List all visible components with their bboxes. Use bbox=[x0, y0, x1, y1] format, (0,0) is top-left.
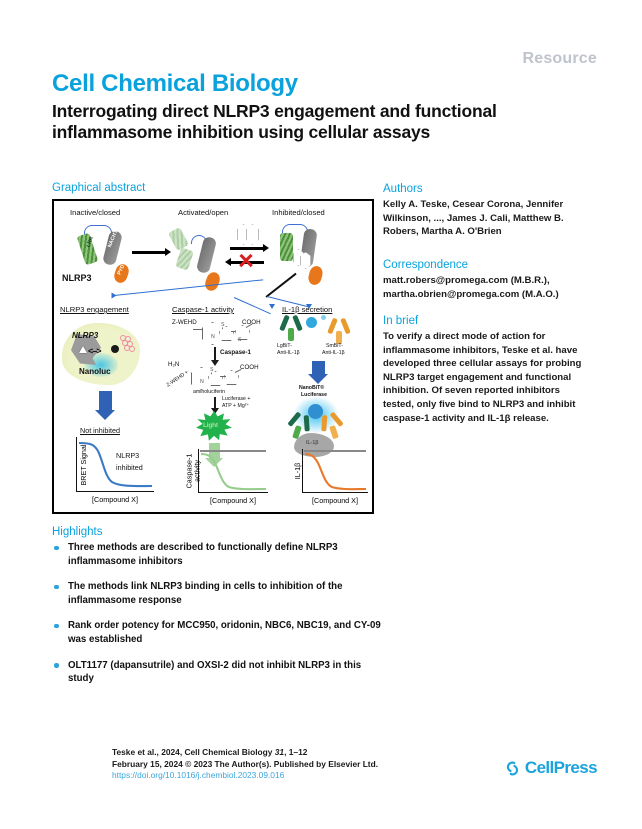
plot-bret-annotation-line2: inhibited bbox=[116, 463, 143, 472]
journal-title: Cell Chemical Biology bbox=[52, 70, 298, 98]
smbit-label-line1: SmBiT- bbox=[326, 343, 343, 349]
nanoluc-label: Nanoluc bbox=[79, 367, 111, 376]
engagement-protein-label: NLRP3 bbox=[72, 331, 98, 340]
lgbit-subunit-icon bbox=[306, 317, 317, 328]
nlrp3-protein-name: NLRP3 bbox=[62, 273, 92, 283]
lrr-domain-inhibited bbox=[280, 233, 293, 261]
product-amine-label: H₂N bbox=[168, 361, 179, 368]
plot-il1b-xlabel: [Compound X] bbox=[312, 496, 358, 505]
cellpress-mark-icon bbox=[504, 760, 521, 777]
chem-bond-4 bbox=[220, 376, 226, 377]
authors-list: Kelly A. Teske, Cesear Corona, Jennifer … bbox=[383, 198, 583, 239]
cellpress-logo[interactable]: CellPress bbox=[504, 758, 597, 778]
panel-heading-engagement: NLRP3 engagement bbox=[60, 305, 129, 314]
chem-bond-5 bbox=[235, 369, 242, 373]
plot-il1b: IL-1β [Compound X] bbox=[302, 449, 368, 493]
highlights-heading: Highlights bbox=[52, 526, 103, 538]
detection-reagent-line1: Luciferase + bbox=[222, 396, 250, 402]
flow-arrow-engagement bbox=[112, 293, 117, 299]
state-label-activated: Activated/open bbox=[178, 208, 228, 217]
list-item: OLT1177 (dapansutrile) and OXSI-2 did no… bbox=[52, 659, 382, 686]
footer-citation: Teske et al., 2024, Cell Chemical Biolog… bbox=[112, 747, 378, 782]
doi-link[interactable]: https://doi.org/10.1016/j.chembiol.2023.… bbox=[112, 770, 378, 782]
tracer-linker-icon: <–> bbox=[88, 346, 101, 356]
pointer-line bbox=[265, 273, 296, 298]
in-brief-text: To verify a direct mode of action for in… bbox=[383, 330, 583, 425]
highlight-text: The methods link NLRP3 binding in cells … bbox=[68, 581, 342, 606]
lgbit-label-line1: LgBiT- bbox=[277, 343, 292, 349]
correspondence-heading: Correspondence bbox=[383, 259, 583, 271]
lrr-domain-open-a bbox=[168, 227, 189, 251]
graphical-abstract-figure: Inactive/closed Activated/open Inhibited… bbox=[52, 199, 374, 514]
inhibition-arrow-forward bbox=[230, 247, 264, 250]
ring-atom-n2: N bbox=[200, 379, 204, 385]
pyd-domain-open bbox=[203, 270, 222, 292]
nanobit-label-line1: NanoBiT® bbox=[299, 385, 324, 391]
plot-bret-xlabel: [Compound X] bbox=[92, 495, 138, 504]
ring-atom-n1: N bbox=[211, 334, 215, 340]
cellpress-wordmark: CellPress bbox=[525, 758, 597, 778]
panel-heading-caspase: Caspase-1 activity bbox=[172, 305, 234, 314]
bullet-icon bbox=[54, 624, 59, 629]
lrr-domain-open-b bbox=[175, 247, 194, 270]
flow-line-engagement bbox=[114, 279, 263, 296]
list-item: Rank order potency for MCC950, oridonin,… bbox=[52, 619, 382, 646]
complementation-arrow bbox=[312, 361, 325, 375]
caspase-enzyme-label: Caspase-1 bbox=[220, 349, 251, 356]
in-brief-heading: In brief bbox=[383, 315, 583, 327]
highlight-text: Three methods are described to functiona… bbox=[68, 542, 338, 567]
authors-heading: Authors bbox=[383, 183, 583, 195]
bullet-icon bbox=[54, 663, 59, 668]
ring-atom-s2: S bbox=[238, 337, 241, 343]
plot-bret-annotation-top: Not inhibited bbox=[80, 426, 120, 435]
list-item: The methods link NLRP3 binding in cells … bbox=[52, 580, 382, 607]
citation-volume: 31 bbox=[275, 747, 284, 757]
plot-bret-signal: BRET Signal [Compound X] Not inhibited N… bbox=[76, 437, 154, 492]
highlights-list: Three methods are described to functiona… bbox=[52, 541, 382, 698]
smbit-antibody-icon bbox=[326, 318, 352, 344]
state-label-inhibited: Inhibited/closed bbox=[272, 208, 325, 217]
page-title: Interrogating direct NLRP3 engagement an… bbox=[52, 101, 567, 143]
plot-caspase-xlabel: [Compound X] bbox=[210, 496, 256, 505]
luciferase-reaction-arrow bbox=[214, 397, 216, 409]
smbit-subunit-icon bbox=[321, 315, 326, 320]
engagement-readout-arrow bbox=[99, 391, 112, 411]
detection-reagent-line2: ATP + Mg²⁺ bbox=[222, 403, 249, 409]
article-cover-page: Resource Cell Chemical Biology Interroga… bbox=[0, 0, 642, 829]
activation-arrow bbox=[132, 251, 166, 254]
bullet-icon bbox=[54, 585, 59, 590]
ring-atom-s1: S bbox=[221, 322, 224, 328]
caspase-cleavage-arrow bbox=[214, 347, 216, 361]
plot-il1b-curve bbox=[302, 449, 368, 493]
article-type-tag: Resource bbox=[522, 50, 597, 68]
tracer-dot-icon bbox=[111, 345, 119, 353]
blocked-x-icon bbox=[238, 253, 253, 268]
graphical-abstract-heading: Graphical abstract bbox=[52, 182, 145, 194]
plot-caspase-curve bbox=[198, 449, 268, 493]
tracer-triangle-icon bbox=[79, 346, 87, 353]
pyd-domain-inhibited bbox=[307, 265, 324, 287]
citation-prefix: Teske et al., 2024, Cell Chemical Biolog… bbox=[112, 747, 275, 757]
flow-arrow-caspase bbox=[269, 304, 275, 309]
lgbit-label-line2: Anti-IL-1β bbox=[277, 350, 300, 356]
bullet-icon bbox=[54, 546, 59, 551]
citation-line-2: February 15, 2024 © 2023 The Author(s). … bbox=[112, 759, 378, 771]
panel-heading-secretion: IL-1β secretion bbox=[282, 305, 332, 314]
correspondence-emails[interactable]: matt.robers@promega.com (M.B.R.), martha… bbox=[383, 274, 583, 301]
flow-line-caspase bbox=[234, 297, 271, 315]
caspase-substrate-label: Z-WEHD bbox=[172, 319, 197, 326]
plot-caspase-activity: Caspase-1 activity [Compound X] bbox=[198, 449, 268, 493]
smbit-label-line2: Anti-IL-1β bbox=[322, 350, 345, 356]
state-label-inactive: Inactive/closed bbox=[70, 208, 120, 217]
plot-bret-annotation-line1: NLRP3 bbox=[116, 451, 139, 460]
aminoluciferin-label: aminoluciferin bbox=[193, 389, 225, 395]
il1b-antigen-label: IL-1β bbox=[306, 440, 318, 446]
citation-pages: , 1–12 bbox=[284, 747, 307, 757]
list-item: Three methods are described to functiona… bbox=[52, 541, 382, 568]
lgbit-antibody-icon bbox=[278, 315, 304, 341]
plot-il1b-ylabel: IL-1β bbox=[293, 463, 302, 480]
product-cooh-label: COOH bbox=[240, 364, 259, 371]
highlight-text: Rank order potency for MCC950, oridonin,… bbox=[68, 620, 381, 645]
leaving-group-label: Z-WEHD + bbox=[165, 369, 189, 388]
ring-atom-s3: S bbox=[210, 367, 213, 373]
citation-line-1: Teske et al., 2024, Cell Chemical Biolog… bbox=[112, 747, 378, 759]
highlight-text: OLT1177 (dapansutrile) and OXSI-2 did no… bbox=[68, 660, 361, 685]
light-output-label: Light bbox=[203, 422, 218, 429]
